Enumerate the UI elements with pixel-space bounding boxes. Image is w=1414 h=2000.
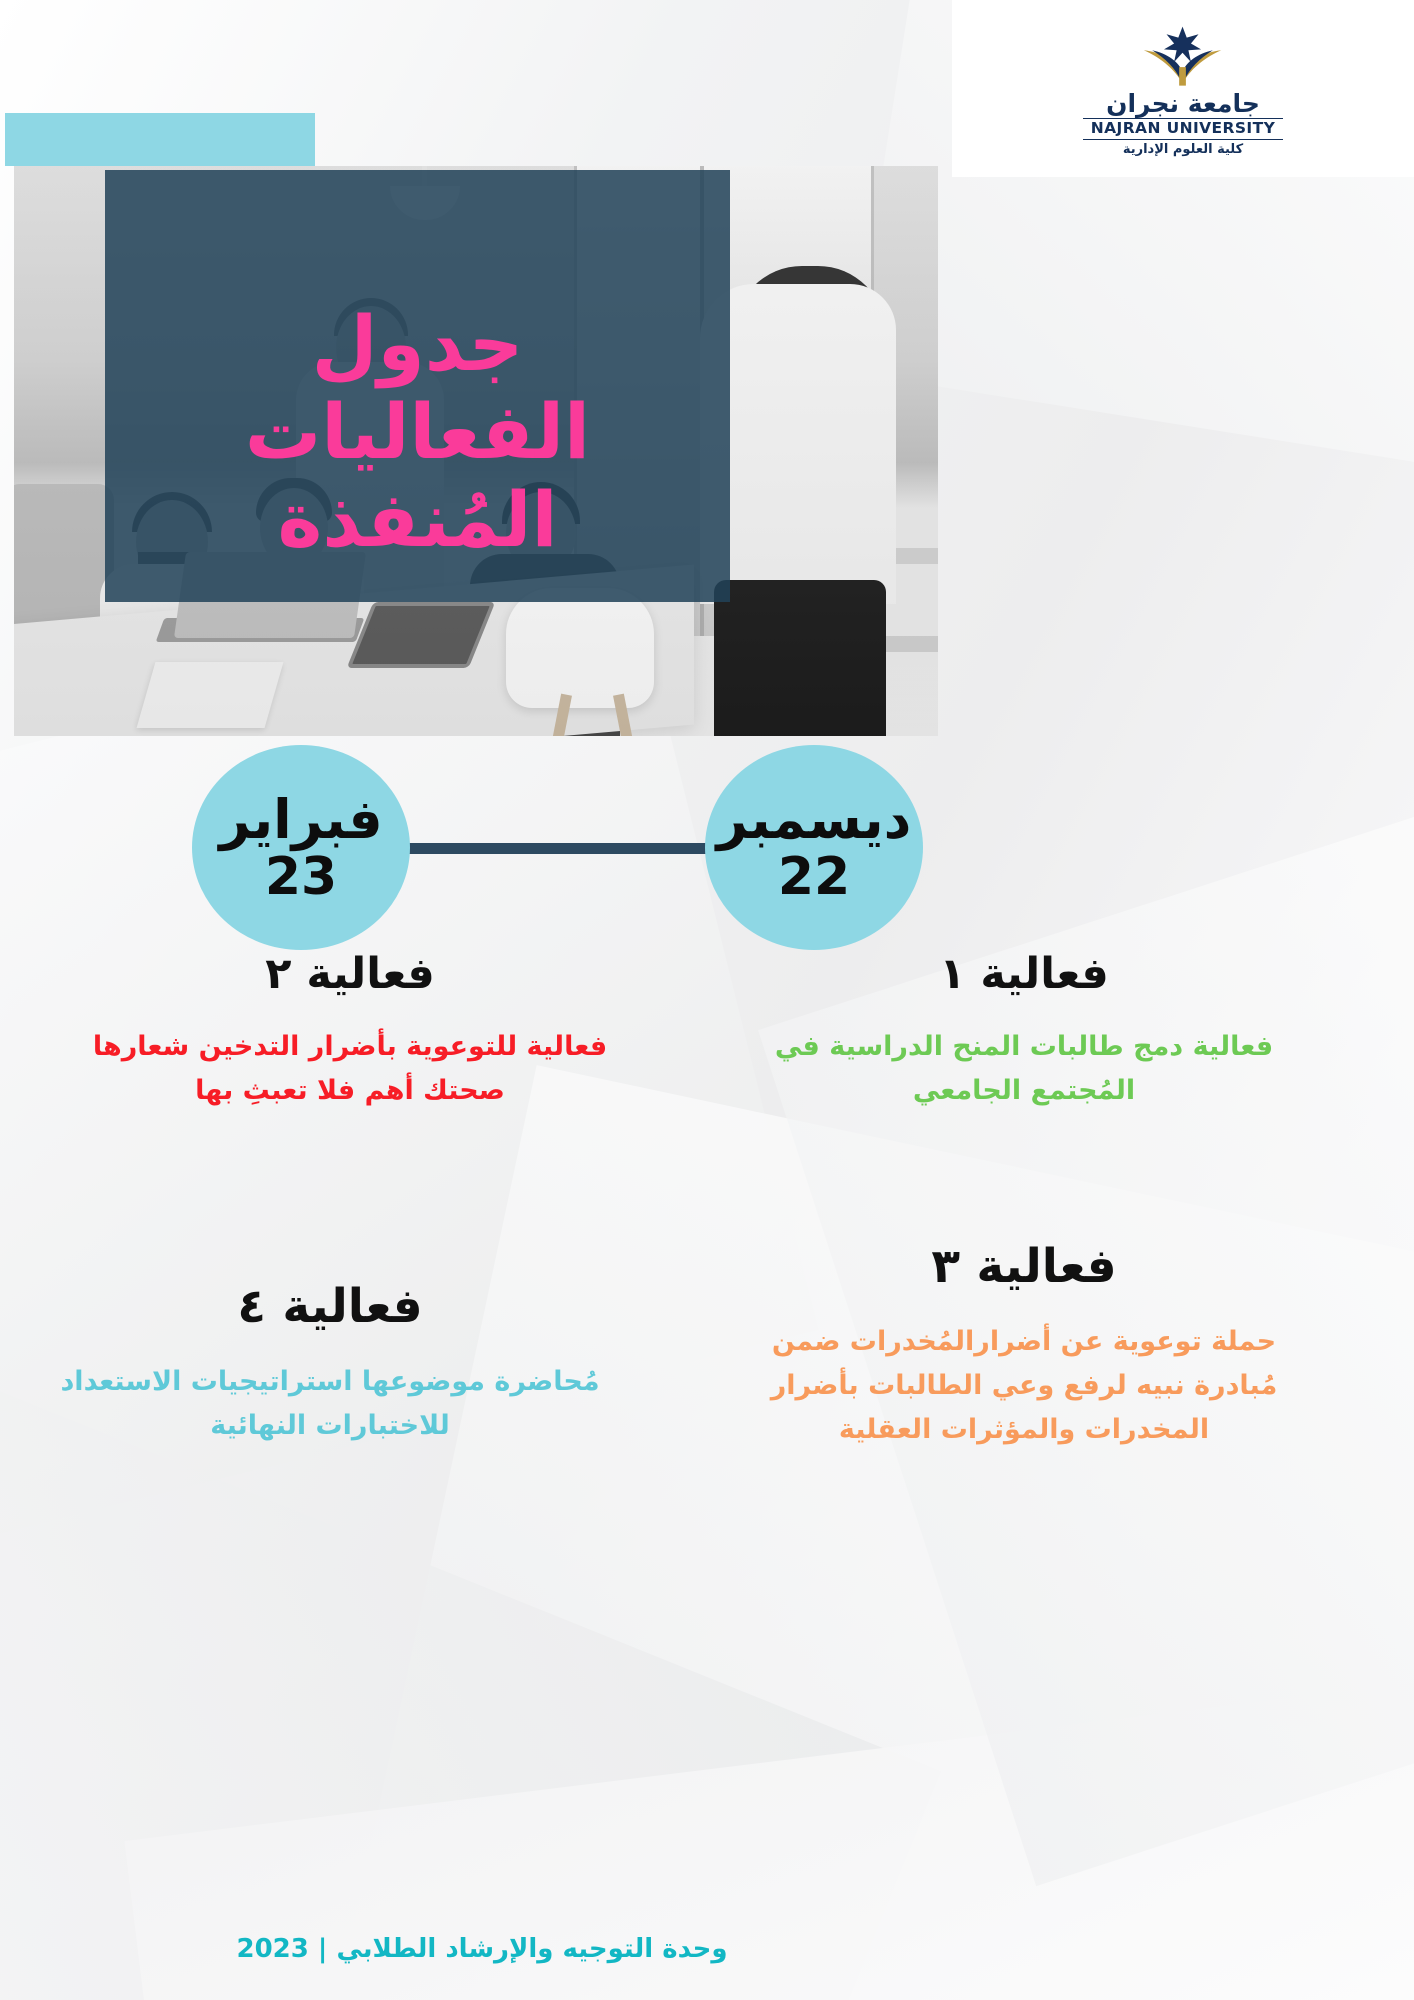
page-title-line-3: المُنفذة (277, 476, 557, 564)
event-card-2: فعالية ٢ فعالية للتوعوية بأضرار التدخين … (70, 950, 630, 1113)
event-heading: فعالية ٢ (70, 950, 630, 999)
page-title-line-1: جدول (312, 300, 524, 388)
timeline-node-month: ديسمبر (717, 793, 912, 847)
event-description: فعالية للتوعوية بأضرار التدخين شعارها صح… (70, 1025, 630, 1112)
event-description: فعالية دمج طالبات المنح الدراسية في المُ… (744, 1025, 1304, 1112)
timeline-connector-line (405, 843, 715, 854)
hero-accent-bar (5, 113, 315, 166)
university-logo-plate: جامعة نجران NAJRAN UNIVERSITY كلية العلو… (952, 0, 1414, 177)
timeline-node-month: فبراير (219, 793, 382, 847)
timeline-node-year: 23 (265, 851, 337, 903)
events-grid: فعالية ١ فعالية دمج طالبات المنح الدراسي… (0, 950, 1414, 1910)
timeline-node-year: 22 (778, 851, 850, 903)
timeline-node-december: ديسمبر 22 (705, 745, 923, 950)
event-heading: فعالية ١ (744, 950, 1304, 999)
page-title-line-2: الفعاليات (245, 388, 590, 476)
logo-english-name: NAJRAN UNIVERSITY (1083, 118, 1283, 140)
event-card-1: فعالية ١ فعالية دمج طالبات المنح الدراسي… (744, 950, 1304, 1113)
event-description: حملة توعوية عن أضرارالمُخدرات ضمن مُبادر… (744, 1320, 1304, 1451)
poster-canvas: جامعة نجران NAJRAN UNIVERSITY كلية العلو… (0, 0, 1414, 2000)
event-heading: فعالية ٤ (50, 1280, 610, 1334)
logo-arabic-name: جامعة نجران (1083, 91, 1283, 117)
timeline-node-february: فبراير 23 (192, 745, 410, 950)
event-description: مُحاضرة موضوعها استراتيجيات الاستعداد لل… (50, 1360, 610, 1447)
footer-text: وحدة التوجيه والإرشاد الطلابي | 2023 (237, 1934, 1178, 1964)
logo-college-name: كلية العلوم الإدارية (1083, 142, 1283, 158)
najran-university-star-book-icon (1132, 25, 1233, 89)
timeline: فبراير 23 ديسمبر 22 (0, 745, 1414, 950)
event-card-4: فعالية ٤ مُحاضرة موضوعها استراتيجيات الا… (50, 1280, 610, 1448)
event-card-3: فعالية ٣ حملة توعوية عن أضرارالمُخدرات ض… (744, 1240, 1304, 1451)
footer: وحدة التوجيه والإرشاد الطلابي | 2023 (0, 1934, 1414, 1964)
page-title: جدول الفعاليات المُنفذة (105, 170, 730, 602)
event-heading: فعالية ٣ (744, 1240, 1304, 1294)
